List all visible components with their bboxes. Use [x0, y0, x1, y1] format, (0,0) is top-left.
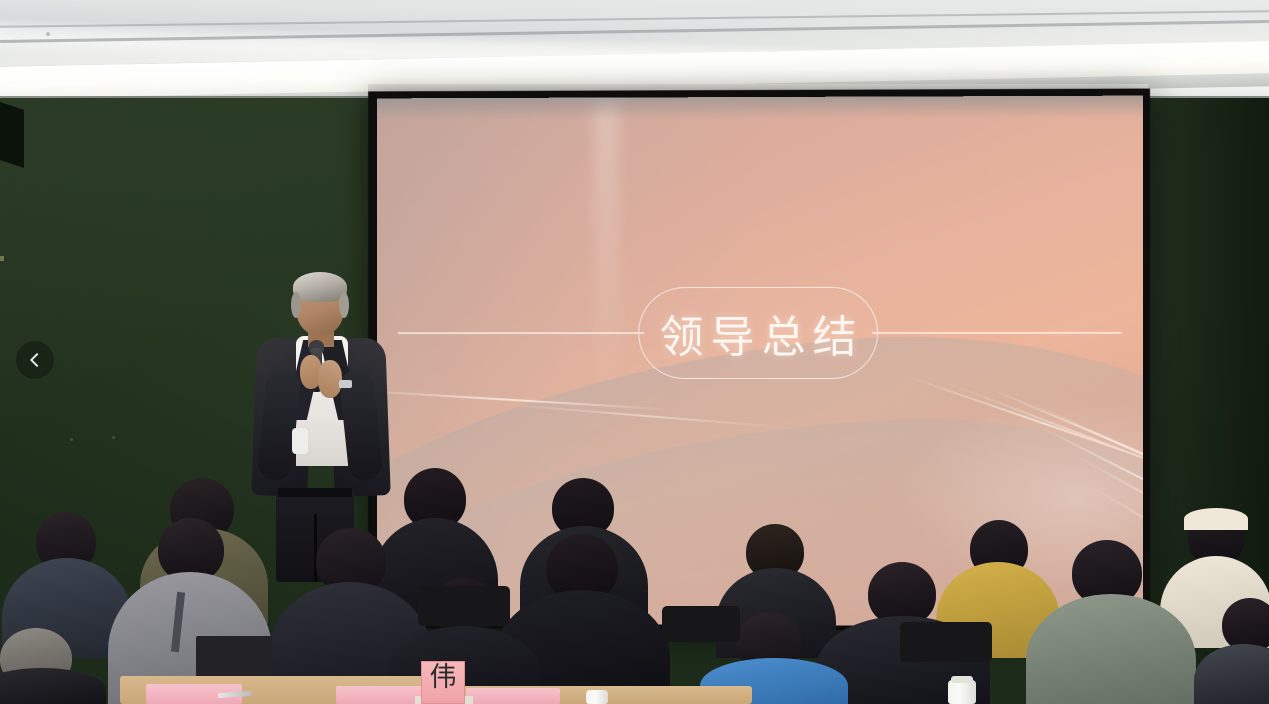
water-cup — [586, 690, 608, 704]
document-paper — [466, 688, 560, 704]
thermos-cap — [951, 676, 973, 683]
thermos-bottle — [948, 680, 976, 704]
presenter-belt — [278, 488, 352, 497]
chair-back — [662, 606, 740, 642]
nameplate: 伟 — [421, 661, 465, 704]
nameplate-text: 伟 — [430, 664, 457, 691]
chair-back — [418, 586, 510, 626]
presenter-hair-side — [291, 292, 301, 318]
photo-viewer: Conference Presentation Photograph — [0, 0, 1269, 704]
previous-photo-button[interactable] — [16, 341, 54, 379]
attendee-headband — [1184, 508, 1248, 530]
wall-speaker — [0, 98, 24, 168]
presenter-watch — [339, 380, 352, 388]
ceiling-fixture-dot — [46, 32, 50, 36]
chair-back — [900, 622, 992, 662]
presenter-cuff — [292, 428, 308, 454]
presenter-hair-side — [339, 292, 349, 318]
presenter-hand — [318, 360, 342, 398]
laptop — [196, 636, 272, 678]
wall-mark — [0, 256, 4, 261]
screen-haze-band — [377, 96, 1143, 121]
slide-title-rule-right — [872, 332, 1122, 333]
slide-light-shaft — [593, 96, 619, 417]
chevron-left-icon — [29, 353, 43, 367]
wall-speck — [112, 436, 115, 439]
wall-speck — [70, 438, 73, 441]
